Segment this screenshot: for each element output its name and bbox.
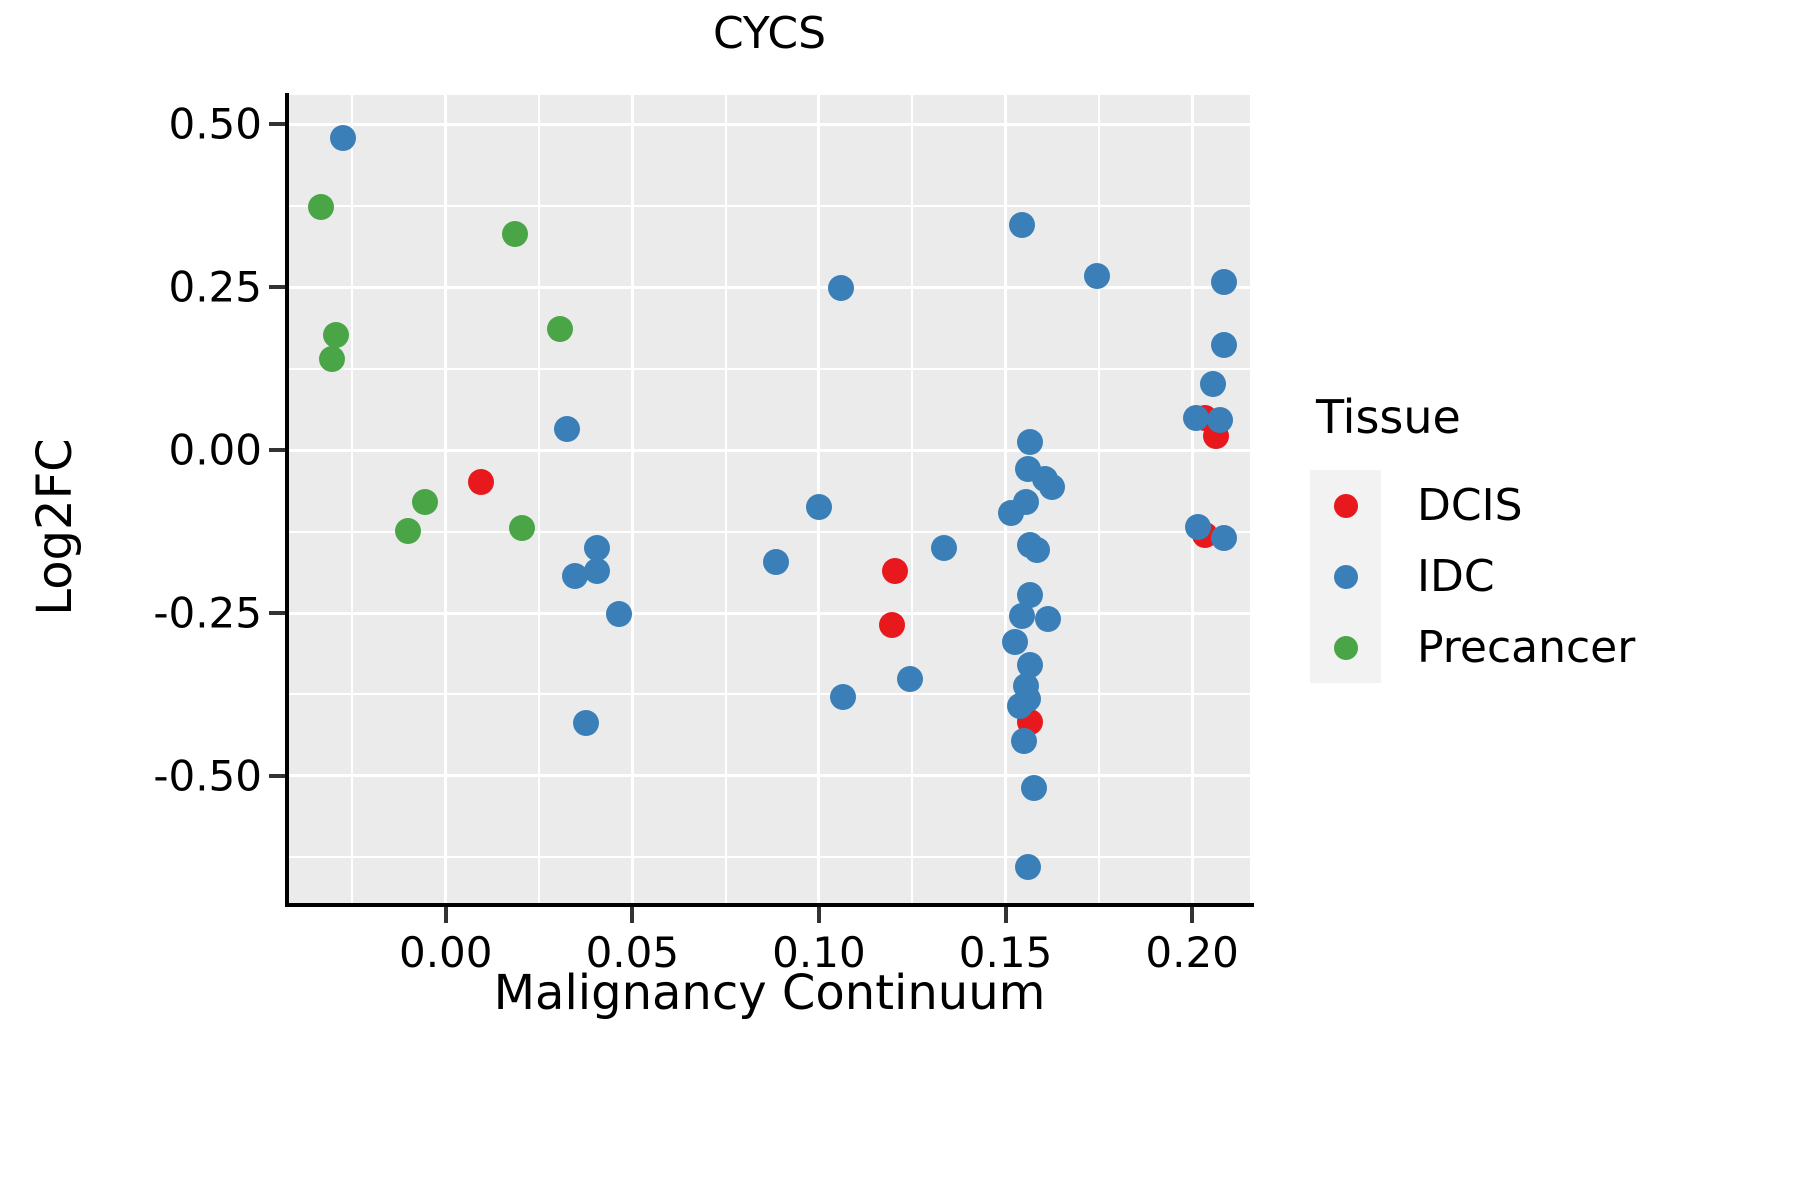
grid-line-vertical-minor — [911, 95, 913, 903]
grid-line-horizontal-minor — [289, 368, 1250, 370]
data-point — [1024, 537, 1050, 563]
legend-item-idc[interactable]: IDC — [1310, 541, 1635, 612]
data-point — [998, 500, 1024, 526]
data-point — [879, 612, 905, 638]
data-point — [763, 549, 789, 575]
x-axis-tick — [1004, 907, 1008, 923]
data-point — [1185, 514, 1211, 540]
data-point — [830, 684, 856, 710]
data-point — [1015, 854, 1041, 880]
data-point — [584, 558, 610, 584]
grid-line-horizontal-minor — [289, 205, 1250, 207]
data-point — [828, 275, 854, 301]
grid-line-vertical-major — [1004, 95, 1007, 903]
data-point — [1007, 693, 1033, 719]
data-point — [1002, 629, 1028, 655]
grid-line-horizontal-major — [289, 123, 1250, 126]
y-axis-tick-label: 0.50 — [168, 100, 262, 149]
data-point — [882, 558, 908, 584]
scatter-plot-figure: CYCS 0.500.250.00-0.25-0.50 0.000.050.10… — [0, 0, 1800, 1200]
data-point — [1039, 474, 1065, 500]
data-point — [554, 416, 580, 442]
data-point — [931, 535, 957, 561]
grid-line-horizontal-major — [289, 612, 1250, 615]
data-point — [584, 535, 610, 561]
data-point — [1009, 212, 1035, 238]
grid-line-vertical-minor — [725, 95, 727, 903]
data-point — [330, 125, 356, 151]
data-point — [308, 194, 334, 220]
y-axis-tick — [269, 448, 285, 452]
data-point — [1021, 775, 1047, 801]
data-point — [395, 518, 421, 544]
grid-line-horizontal-minor — [289, 531, 1250, 533]
legend-key-swatch — [1310, 612, 1381, 683]
data-point — [1035, 606, 1061, 632]
data-point — [1211, 269, 1237, 295]
data-point — [1207, 407, 1233, 433]
grid-line-horizontal-minor — [289, 856, 1250, 858]
grid-line-vertical-minor — [538, 95, 540, 903]
legend-item-precancer[interactable]: Precancer — [1310, 612, 1635, 683]
y-axis-line — [285, 93, 289, 905]
data-point — [606, 601, 632, 627]
data-point — [1017, 429, 1043, 455]
grid-line-vertical-minor — [351, 95, 353, 903]
plot-panel — [289, 95, 1250, 903]
data-point — [573, 710, 599, 736]
x-axis-label: Malignancy Continuum — [289, 965, 1250, 1021]
data-point — [502, 221, 528, 247]
legend-marker-dot-icon — [1334, 565, 1358, 589]
page-title: CYCS — [289, 8, 1250, 61]
grid-line-horizontal-minor — [289, 693, 1250, 695]
y-axis-tick — [269, 611, 285, 615]
x-axis-line — [285, 903, 1254, 907]
y-axis-tick — [269, 285, 285, 289]
data-point — [806, 494, 832, 520]
data-point — [412, 489, 438, 515]
x-axis-tick — [817, 907, 821, 923]
data-point — [1009, 603, 1035, 629]
grid-line-vertical-minor — [1098, 95, 1100, 903]
grid-line-vertical-major — [1191, 95, 1194, 903]
legend-item-label: Precancer — [1417, 622, 1635, 673]
legend-title: Tissue — [1310, 390, 1635, 444]
legend-key-swatch — [1310, 470, 1381, 541]
legend-item-dcis[interactable]: DCIS — [1310, 470, 1635, 541]
data-point — [1084, 263, 1110, 289]
data-point — [547, 316, 573, 342]
legend: Tissue DCISIDCPrecancer — [1310, 390, 1635, 683]
grid-line-horizontal-major — [289, 449, 1250, 452]
grid-line-vertical-major — [444, 95, 447, 903]
legend-marker-dot-icon — [1334, 494, 1358, 518]
data-point — [1200, 371, 1226, 397]
data-point — [468, 469, 494, 495]
y-axis-tick-label: -0.25 — [153, 589, 262, 638]
y-axis-tick-label: -0.50 — [153, 751, 262, 800]
data-point — [1011, 728, 1037, 754]
grid-line-vertical-major — [631, 95, 634, 903]
legend-marker-dot-icon — [1334, 636, 1358, 660]
y-axis-tick-label: 0.25 — [168, 263, 262, 312]
grid-line-horizontal-major — [289, 774, 1250, 777]
data-point — [1211, 525, 1237, 551]
legend-key-swatch — [1310, 541, 1381, 612]
x-axis-tick — [1190, 907, 1194, 923]
x-axis-tick — [444, 907, 448, 923]
y-axis-tick-label: 0.00 — [168, 426, 262, 475]
legend-item-label: DCIS — [1417, 480, 1523, 531]
y-axis-tick — [269, 122, 285, 126]
data-point — [1211, 332, 1237, 358]
data-point — [509, 515, 535, 541]
legend-items: DCISIDCPrecancer — [1310, 470, 1635, 683]
grid-line-horizontal-major — [289, 286, 1250, 289]
data-point — [323, 322, 349, 348]
data-point — [1183, 405, 1209, 431]
legend-item-label: IDC — [1417, 551, 1495, 602]
y-axis-label: Log2FC — [27, 327, 83, 727]
data-point — [319, 346, 345, 372]
x-axis-tick — [630, 907, 634, 923]
y-axis-tick — [269, 774, 285, 778]
data-point — [897, 666, 923, 692]
